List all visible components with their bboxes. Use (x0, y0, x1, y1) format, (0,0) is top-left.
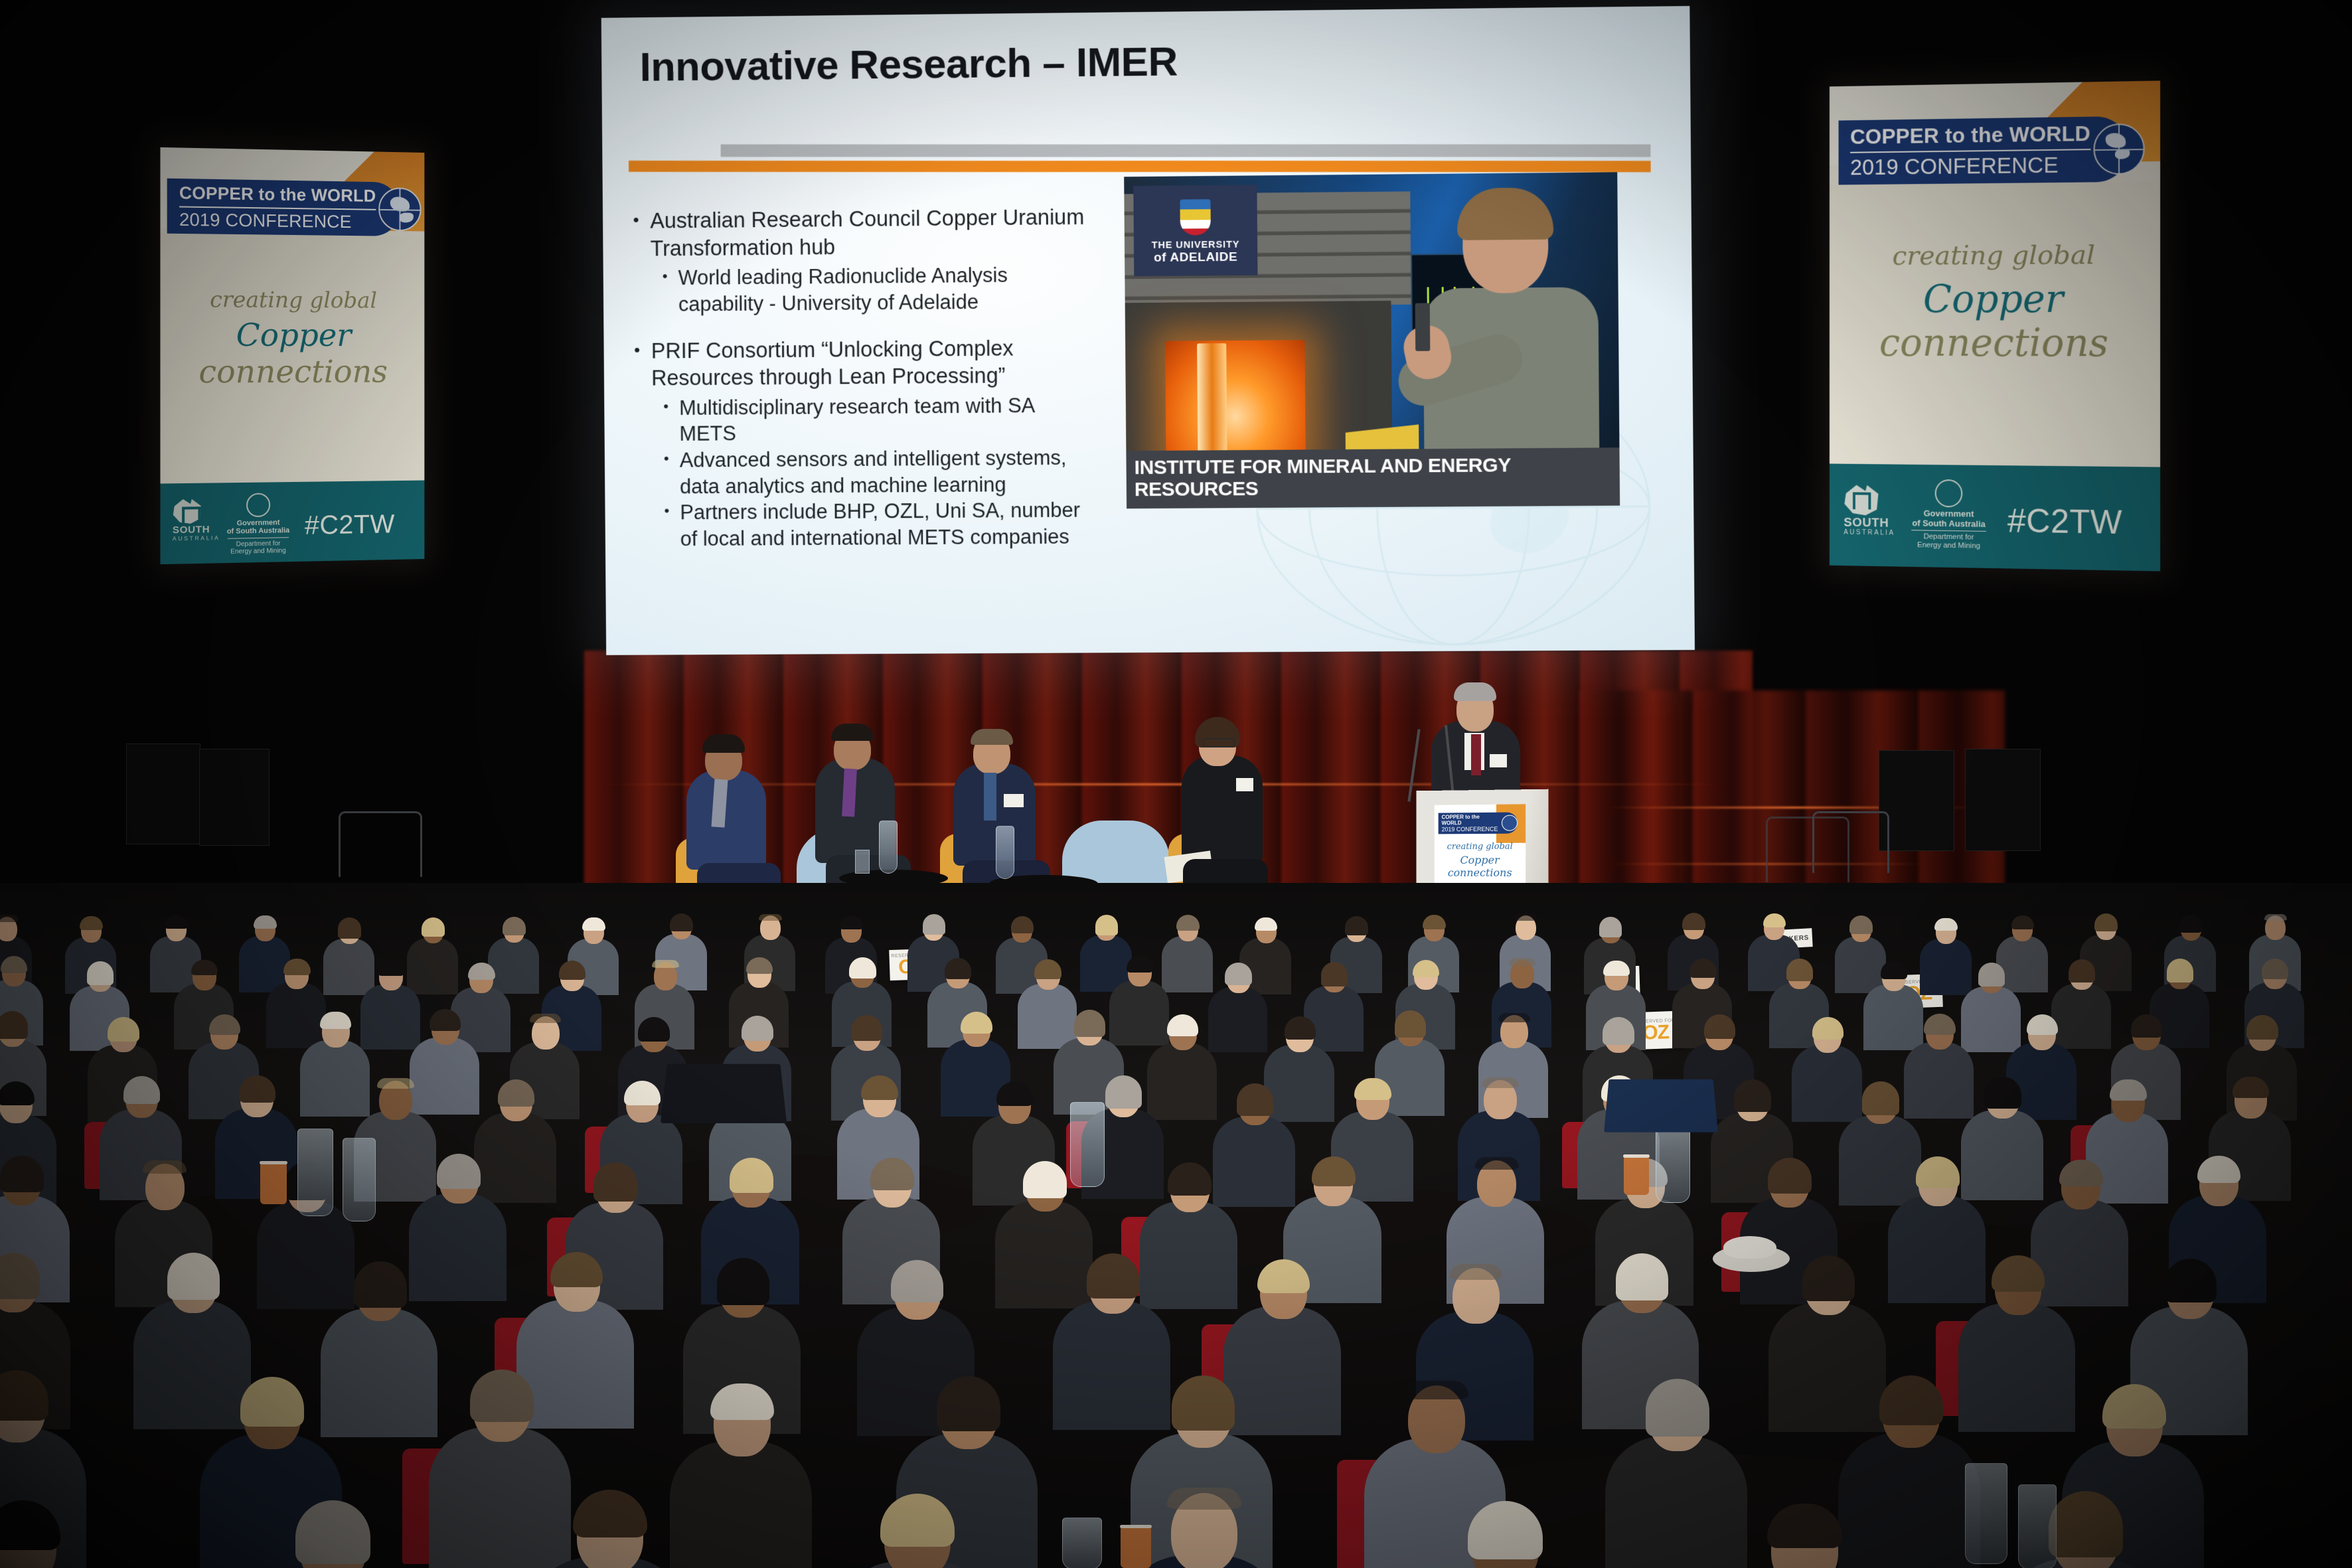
globe-icon (378, 187, 421, 231)
audience-member-hair (1689, 959, 1716, 978)
globe-icon (2093, 123, 2144, 175)
audience-member-shoulders (2031, 1200, 2128, 1307)
podium-script-line2: Copper connections (1435, 854, 1526, 879)
bullet-dot-icon: • (633, 208, 650, 263)
water-carafe (1070, 1102, 1105, 1187)
logo-line1: THE UNIVERSITY (1152, 239, 1240, 250)
globe-landmass-icon (399, 212, 413, 222)
sa-logo-sub: AUSTRALIA (1843, 529, 1895, 537)
podium-script-line1: creating global (1435, 842, 1526, 852)
panelist-2-tie (842, 769, 857, 817)
sa-logo-sub: AUSTRALIA (173, 534, 220, 542)
globe-landmass-icon (2115, 149, 2130, 159)
pa-speaker (199, 749, 270, 846)
coffee-cup (1624, 1156, 1649, 1195)
audience-member-hair (851, 1015, 882, 1041)
audience-member-shoulders (1053, 1301, 1170, 1430)
audience-member-hair (840, 916, 863, 929)
audience-member-shoulders (321, 1308, 438, 1437)
presenter-tie (1471, 734, 1481, 775)
slide-bar-orange (629, 161, 1651, 172)
slide-bullet-list: •Australian Research Council Copper Uran… (633, 204, 1097, 553)
oz-minerals-logo: OZ (1642, 1023, 1670, 1042)
audience-member-shoulders (1904, 1042, 1974, 1119)
conference-photo: Innovative Research – IMER •Australian R… (0, 0, 2352, 1568)
water-carafe (1965, 1463, 2007, 1564)
audience-member-hair (849, 957, 876, 979)
pa-speaker (1965, 749, 2041, 851)
audience-member-shoulders (429, 1427, 571, 1568)
audience-member-shoulders (1961, 986, 2021, 1052)
banner-script-line1: creating global (1830, 239, 2160, 272)
bullet-level2: •Advanced sensors and intelligent system… (664, 445, 1097, 500)
audience-member-shoulders (1018, 984, 1077, 1050)
banner-script-connections: connections (198, 354, 387, 391)
audience-member-hair (1734, 1079, 1771, 1112)
panelist-5-glasses-icon (1203, 738, 1235, 747)
bullet-text: Multidisciplinary research team with SA … (679, 392, 1097, 447)
audience-member-hair (1167, 1488, 1241, 1510)
government-sa-logo: Government of South Australia Department… (1909, 479, 1989, 551)
bullet-text: World leading Radionuclide Analysis capa… (678, 262, 1095, 317)
audience-member-hair (2167, 959, 2193, 982)
audience-member-shoulders (323, 939, 375, 995)
bullet-dot-icon: • (664, 500, 680, 552)
audience-member-shoulders (1605, 1437, 1747, 1568)
audience-member-hair (1095, 915, 1119, 935)
audience-member-shoulders (1792, 1046, 1861, 1123)
banner-header-line1: COPPER to the WORLD (179, 183, 376, 206)
audience-member-hair (165, 915, 188, 929)
bullet-dot-icon: • (634, 337, 651, 392)
globe-landmass-icon (2105, 133, 2125, 148)
bullet-text: Partners include BHP, OZL, Uni SA, numbe… (680, 497, 1097, 552)
slide-bar-grey (721, 144, 1651, 157)
bullet-text: Australian Research Council Copper Urani… (650, 204, 1095, 263)
audience-member-shoulders (516, 1300, 634, 1429)
adelaide-crest-icon (1180, 199, 1210, 235)
audience-member-shoulders (1839, 1115, 1921, 1206)
banner-script-copper: Copper (1923, 277, 2063, 321)
audience-member-hair (354, 1261, 406, 1308)
presenter-name-badge (1490, 754, 1507, 767)
panelist-1-hair (702, 734, 745, 753)
stage-accent-light (597, 783, 1726, 785)
audience-member-hair (1321, 962, 1348, 986)
bullet-level2: •Multidisciplinary research team with SA… (663, 392, 1097, 447)
audience-member-shoulders (410, 1038, 479, 1115)
audience-member-hair (167, 1253, 220, 1300)
bullet-text: PRIF Consortium “Unlocking Complex Resou… (651, 334, 1097, 392)
laptop (1604, 1079, 1718, 1133)
bullet-dot-icon: • (663, 395, 679, 447)
photo-researcher-hair (1457, 187, 1554, 240)
sa-government-crest-icon (246, 493, 270, 517)
audience-member-shoulders (1162, 936, 1214, 992)
audience-member-hair (652, 960, 678, 968)
audience-member-hair (1616, 1253, 1668, 1301)
audience-member-hair (254, 915, 277, 929)
audience-member-shoulders (409, 1194, 507, 1301)
bullet-text: Advanced sensors and intelligent systems… (680, 445, 1097, 500)
audience-member-hair (1786, 959, 1813, 981)
bullet-level2: •World leading Radionuclide Analysis cap… (663, 262, 1096, 318)
imer-caption: INSTITUTE FOR MINERAL AND ENERGY RESOURC… (1126, 447, 1620, 509)
photo-furnace-glow (1165, 340, 1306, 467)
bullet-level2: •Partners include BHP, OZL, Uni SA, numb… (664, 497, 1097, 552)
audience-member-shoulders (1264, 1045, 1334, 1122)
audience-member-shoulders (1888, 1196, 1986, 1303)
audience-member-hair (1498, 1013, 1529, 1022)
panelist-3-name-badge (1004, 794, 1024, 807)
banner-header-line1: COPPER to the WORLD (1850, 121, 2090, 149)
photo-researcher-sample (1415, 303, 1431, 351)
audience-member-hair (1849, 915, 1873, 933)
banner-teal-footer: SOUTH AUSTRALIA Government of South Aust… (160, 481, 424, 565)
audience-member-hair (1285, 1016, 1316, 1040)
audience-member-hair (1023, 1161, 1067, 1198)
stage-glass (855, 850, 870, 874)
audience-member-hair (742, 1016, 773, 1041)
south-australia-logo: SOUTH AUSTRALIA (1843, 483, 1895, 536)
stage-rail (339, 811, 422, 877)
audience-member-hair (0, 915, 19, 921)
audience-member-hair (937, 1376, 1000, 1431)
water-carafe (2018, 1484, 2057, 1568)
banner-header-text: COPPER to the WORLD 2019 CONFERENCE (1839, 121, 2091, 181)
panelist-3-hair (971, 729, 1013, 745)
sa-logo-word: SOUTH (1843, 516, 1895, 530)
banner-header-badge: COPPER to the WORLD 2019 CONFERENCE (167, 179, 400, 236)
water-carafe (297, 1129, 333, 1216)
audience-member-shoulders (1961, 1110, 2043, 1200)
audience-member-hair (2069, 959, 2095, 982)
gov-line2: of South Australia (1909, 518, 1989, 529)
audience-member-hair (1862, 1081, 1899, 1115)
audience-member-hair (1646, 1379, 1709, 1437)
south-australia-logo: SOUTH AUSTRALIA (173, 498, 220, 542)
presenter-hair (1454, 682, 1496, 701)
stage-water-carafe (996, 826, 1014, 879)
audience-member-hair (1802, 1255, 1855, 1300)
panelist-5-name-badge (1236, 778, 1253, 791)
banner-left: COPPER to the WORLD 2019 CONFERENCE crea… (160, 147, 424, 564)
audience-member-shoulders (1768, 1303, 1886, 1432)
bullet-dot-icon: • (663, 265, 678, 317)
audience-member-hair (759, 914, 782, 921)
audience-member-hair (2164, 1259, 2217, 1302)
banner-script-line1: creating global (160, 286, 424, 313)
audience-member-hair (593, 1162, 637, 1202)
audience-member-hair (338, 917, 361, 939)
podium-presenter (1427, 677, 1520, 803)
audience-member-hair (2094, 913, 2118, 931)
audience-member-hair (377, 1078, 414, 1089)
audience-member-hair (1395, 1010, 1426, 1038)
audience-member-shoulders (995, 1201, 1093, 1308)
banner-hashtag: #C2TW (2007, 501, 2122, 542)
audience-member-shoulders (1863, 984, 1923, 1050)
audience-member-hair (1514, 913, 1537, 920)
audience-member-hair (1450, 1264, 1502, 1280)
gov-line4: Energy and Mining (1909, 541, 1989, 551)
audience-member-shoulders (360, 984, 420, 1050)
audience-member-shoulders (1920, 939, 1972, 995)
audience-member-shoulders (1835, 937, 1887, 993)
audience-member-hair (1599, 917, 1622, 937)
government-sa-logo: Government of South Australia Department… (225, 493, 291, 556)
banner-script-copper: Copper (236, 317, 352, 354)
audience-member-hair (1603, 1017, 1634, 1045)
audience-member-hair (503, 917, 526, 936)
audience-member-hair (2110, 1079, 2147, 1101)
audience-member-hair (1105, 1075, 1142, 1109)
audience-member-hair (1225, 963, 1251, 985)
gov-rule (1911, 530, 1986, 532)
water-carafe (343, 1138, 376, 1221)
coffee-cup (260, 1163, 287, 1204)
audience-member-hair (2264, 914, 2288, 921)
podium-header-line2: 2019 CONFERENCE (1439, 826, 1499, 833)
bullet-level1: •Australian Research Council Copper Uran… (633, 204, 1095, 263)
audience-member-hair (422, 917, 445, 937)
pa-speaker (1879, 750, 1954, 851)
sa-logo-word: SOUTH (173, 524, 220, 535)
audience-member-hair (1011, 916, 1034, 933)
gov-line2: of South Australia (225, 526, 291, 536)
audience-member-hair (582, 917, 605, 931)
audience-member-hair (1482, 1077, 1519, 1089)
globe-landmass-icon (390, 196, 410, 211)
audience-member-hair (80, 916, 103, 929)
audience-member-hair (1682, 913, 1705, 929)
slide-surface: Innovative Research – IMER •Australian R… (601, 6, 1695, 655)
banner-teal-footer: SOUTH AUSTRALIA Government of South Aust… (1830, 463, 2160, 571)
stage-rail (1766, 817, 1849, 882)
audience-member-hair (2246, 1015, 2278, 1040)
audience-member-shoulders (1208, 987, 1268, 1053)
audience-member-shoulders (1223, 1306, 1341, 1435)
water-carafe (1062, 1518, 1102, 1568)
audience-member-shoulders (300, 1040, 370, 1117)
south-australia-map-icon (173, 498, 204, 525)
banner-script-connections: connections (1879, 321, 2108, 366)
panelist-2-hair (831, 724, 874, 741)
banner-script-line2: Copper connections (1830, 277, 2160, 366)
audience-member-shoulders (1213, 1117, 1295, 1207)
audience-member-shoulders (488, 937, 540, 994)
audience-member-hair (530, 1014, 561, 1023)
audience-member-hair (559, 961, 586, 980)
university-of-adelaide-logo: THE UNIVERSITY of ADELAIDE (1133, 185, 1257, 276)
audience-member-shoulders (1147, 1043, 1217, 1120)
podium-header-badge: COPPER to the WORLD 2019 CONFERENCE (1439, 812, 1518, 834)
gov-line4: Energy and Mining (225, 547, 291, 556)
banner-script-line2: Copper connections (160, 317, 424, 390)
audience-member-shoulders (474, 1113, 556, 1203)
panelist-3-tie (984, 773, 996, 821)
sa-government-crest-icon (1935, 479, 1963, 507)
audience-member-shoulders (1838, 1433, 1980, 1568)
slide-photo: THE UNIVERSITY of ADELAIDE INSTITUTE FOR… (1124, 172, 1620, 509)
audience-member-shoulders (133, 1300, 251, 1429)
banner-header-line2: 2019 CONFERENCE (1850, 152, 2090, 180)
banner-header-text: COPPER to the WORLD 2019 CONFERENCE (167, 182, 376, 232)
photo-furnace-rod (1197, 343, 1227, 456)
stage-water-carafe (879, 821, 898, 874)
audience-member-hair (1978, 963, 2005, 986)
audience-member-hair (1475, 1157, 1519, 1170)
audience-member-hair (1074, 1010, 1105, 1037)
laptop (661, 1064, 787, 1123)
bullet-level1: •PRIF Consortium “Unlocking Complex Reso… (634, 334, 1097, 392)
audience-member-shoulders (1958, 1303, 2076, 1432)
globe-icon (1502, 815, 1518, 831)
audience-member-shoulders (1109, 980, 1169, 1046)
pa-speaker (126, 744, 200, 844)
audience-member-shoulders (2051, 984, 2111, 1050)
podium-header-line1: COPPER to the WORLD (1439, 813, 1499, 826)
banner-header-line2: 2019 CONFERENCE (179, 209, 376, 232)
panelist-5-body (1182, 755, 1263, 863)
audience-member-shoulders (266, 982, 326, 1048)
audience-member-hair (1423, 915, 1446, 929)
projection-screen: Innovative Research – IMER •Australian R… (601, 6, 1695, 655)
south-australia-map-icon (1843, 483, 1881, 516)
bowl (1723, 1236, 1776, 1259)
slide-title: Innovative Research – IMER (639, 38, 1178, 90)
audience-member-hair (1984, 1077, 2021, 1109)
bullet-dot-icon: • (664, 447, 680, 500)
audience-member-hair (923, 914, 946, 935)
gov-rule (228, 537, 289, 539)
audience-member-shoulders (257, 1202, 354, 1309)
audience-member-hair (1934, 918, 1958, 931)
audience-member-shoulders (670, 1441, 812, 1568)
audience-member-shoulders (407, 938, 459, 994)
audience-member-hair (1176, 915, 1200, 931)
audience-member-hair (87, 961, 114, 984)
banner-hashtag: #C2TW (305, 510, 395, 541)
audience-member-shoulders (1140, 1202, 1237, 1309)
banner-right: COPPER to the WORLD 2019 CONFERENCE crea… (1830, 81, 2160, 572)
banner-header-badge: COPPER to the WORLD 2019 CONFERENCE (1839, 116, 2130, 185)
audience-member-hair (1405, 1381, 1468, 1400)
podium-header-text: COPPER to the WORLD 2019 CONFERENCE (1439, 813, 1499, 832)
coffee-cup (1121, 1527, 1151, 1568)
audience-member-hair (143, 1160, 187, 1174)
logo-line2: of ADELAIDE (1154, 250, 1238, 265)
audience-member-hair (1509, 958, 1535, 966)
